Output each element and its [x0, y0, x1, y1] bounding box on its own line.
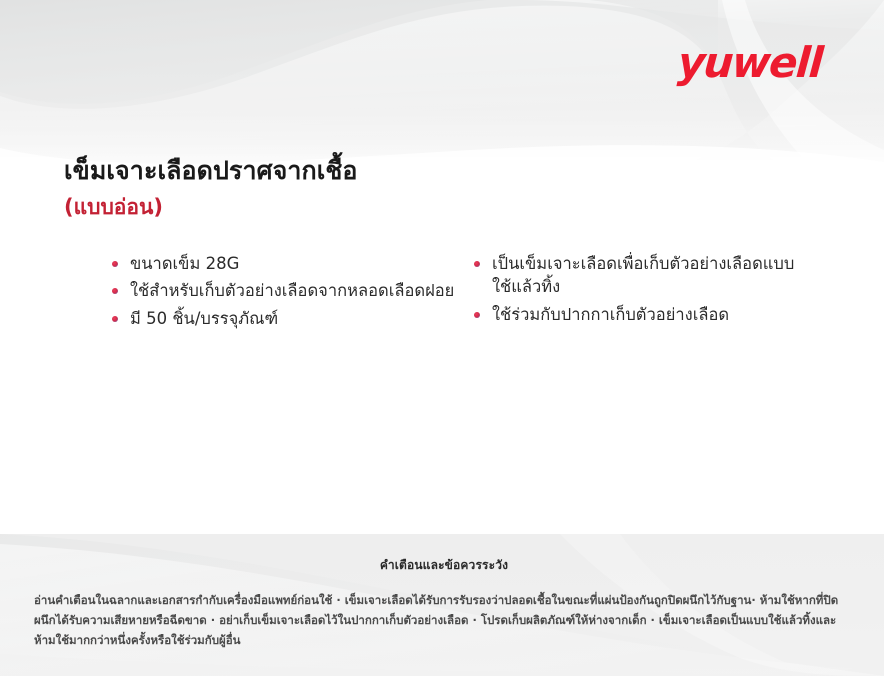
list-item-label: ใช้สำหรับเก็บตัวอย่างเลือดจากหลอดเลือดฝอ…: [130, 281, 454, 300]
list-item-label: ใช้ร่วมกับปากกาเก็บตัวอย่างเลือด: [492, 305, 729, 324]
list-item: เป็นเข็มเจาะเลือดเพื่อเก็บตัวอย่างเลือดแ…: [472, 252, 802, 299]
footer-content: คำเตือนและข้อควรระวัง อ่านคำเตือนในฉลากแ…: [0, 534, 884, 650]
feature-list-left: ขนาดเข็ม 28G ใช้สำหรับเก็บตัวอย่างเลือดจ…: [110, 252, 472, 330]
bullet-dot-icon: [112, 316, 118, 322]
header-band: yuwell: [0, 0, 884, 175]
feature-column-right: เป็นเข็มเจาะเลือดเพื่อเก็บตัวอย่างเลือดแ…: [472, 252, 802, 330]
list-item-label: เป็นเข็มเจาะเลือดเพื่อเก็บตัวอย่างเลือดแ…: [492, 254, 794, 296]
feature-list-right: เป็นเข็มเจาะเลือดเพื่อเก็บตัวอย่างเลือดแ…: [472, 252, 802, 326]
feature-column-left: ขนาดเข็ม 28G ใช้สำหรับเก็บตัวอย่างเลือดจ…: [110, 252, 472, 334]
product-info-page: yuwell เข็มเจาะเลือดปราศจากเชื้อ (แบบอ่อ…: [0, 0, 884, 676]
product-subtitle: (แบบอ่อน): [64, 193, 764, 221]
header-wave-decoration: [0, 0, 884, 175]
bullet-dot-icon: [112, 288, 118, 294]
bullet-dot-icon: [112, 261, 118, 267]
bullet-dot-icon: [474, 261, 480, 267]
footer-heading: คำเตือนและข้อควรระวัง: [34, 556, 854, 575]
list-item-label: มี 50 ชิ้น/บรรจุภัณฑ์: [130, 309, 278, 328]
yuwell-logo: yuwell: [677, 42, 824, 84]
page-title: เข็มเจาะเลือดปราศจากเชื้อ: [64, 154, 764, 188]
footer-warning-text: อ่านคำเตือนในฉลากและเอกสารกำกับเครื่องมื…: [34, 591, 854, 650]
bullet-dot-icon: [474, 312, 480, 318]
list-item: ขนาดเข็ม 28G: [110, 252, 472, 275]
list-item-label: ขนาดเข็ม 28G: [130, 254, 239, 273]
feature-columns: ขนาดเข็ม 28G ใช้สำหรับเก็บตัวอย่างเลือดจ…: [0, 252, 884, 334]
list-item: มี 50 ชิ้น/บรรจุภัณฑ์: [110, 307, 472, 330]
list-item: ใช้สำหรับเก็บตัวอย่างเลือดจากหลอดเลือดฝอ…: [110, 279, 472, 302]
footer-band: คำเตือนและข้อควรระวัง อ่านคำเตือนในฉลากแ…: [0, 534, 884, 676]
list-item: ใช้ร่วมกับปากกาเก็บตัวอย่างเลือด: [472, 303, 802, 326]
title-block: เข็มเจาะเลือดปราศจากเชื้อ (แบบอ่อน): [64, 154, 764, 221]
